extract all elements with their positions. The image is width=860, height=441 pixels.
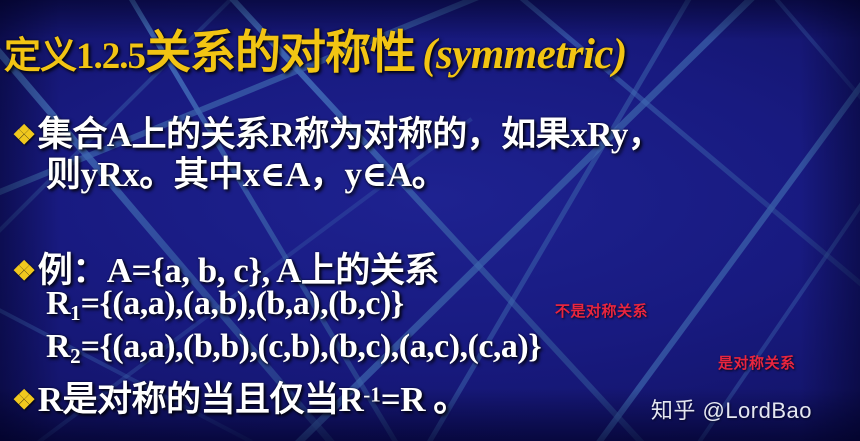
relation-r1-body: ={(a,a),(a,b),(b,a),(b,c)}	[81, 285, 404, 322]
watermark: 知乎 @LordBao	[651, 393, 812, 425]
page-title: 定义1.2.5关系的对称性(symmetric)	[4, 16, 860, 82]
slide-content: 定义1.2.5关系的对称性(symmetric) ❖集合A上的关系R称为对称的，…	[0, 0, 860, 441]
diamond-bullet-icon: ❖	[12, 120, 36, 151]
relation-r2: R2={(a,a),(b,b),(c,b),(b,c),(a,c),(c,a)}	[46, 328, 541, 369]
relation-r1: R1={(a,a),(a,b),(b,a),(b,c)}	[46, 285, 404, 326]
relation-r1-name: R	[46, 285, 70, 322]
definition-line-2: 则yRx。其中x∈A，y∈A。	[46, 146, 446, 197]
theorem-suffix: =R 。	[381, 380, 468, 419]
presentation-slide: 定义1.2.5关系的对称性(symmetric) ❖集合A上的关系R称为对称的，…	[0, 0, 860, 441]
theorem-prefix: R是对称的当且仅当R	[38, 380, 364, 419]
title-main: 关系的对称性	[145, 27, 415, 78]
annotation-r1: 不是对称关系	[555, 300, 648, 321]
relation-r2-name: R	[46, 328, 70, 365]
title-number: 定义1.2.5	[4, 36, 145, 77]
diamond-bullet-icon: ❖	[12, 385, 36, 416]
theorem-superscript: -1	[363, 383, 381, 407]
theorem-line: ❖R是对称的当且仅当R-1=R 。	[12, 371, 468, 422]
relation-r1-subscript: 1	[70, 301, 81, 325]
relation-r2-body: ={(a,a),(b,b),(c,b),(b,c),(a,c),(c,a)}	[81, 328, 542, 365]
annotation-r2: 是对称关系	[718, 352, 796, 373]
definition-line-2-text: 则yRx。其中x∈A，y∈A。	[46, 155, 446, 194]
relation-r2-subscript: 2	[70, 344, 81, 368]
title-english: (symmetric)	[422, 31, 627, 78]
diamond-bullet-icon: ❖	[12, 256, 36, 287]
